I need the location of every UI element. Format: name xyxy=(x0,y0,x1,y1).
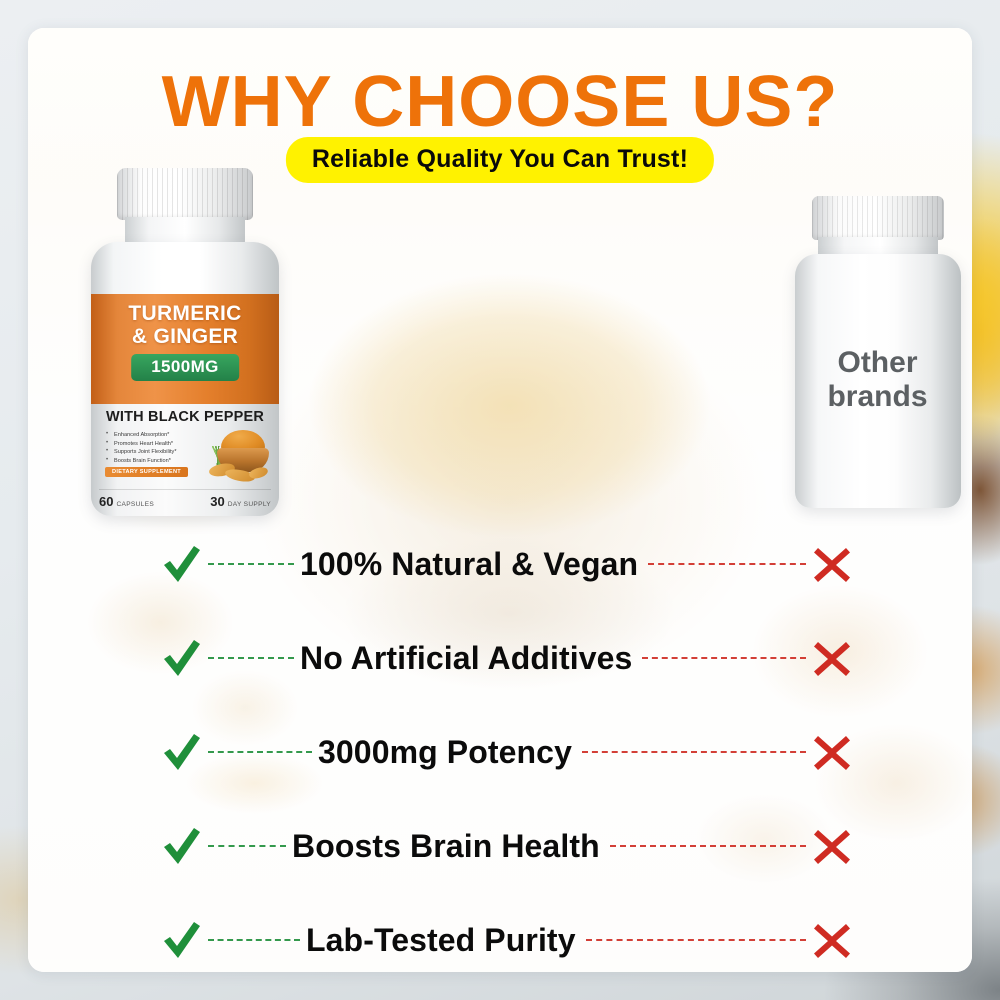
comparison-row: 3000mg Potency xyxy=(160,726,852,778)
cross-icon xyxy=(812,920,852,960)
competitor-label-line-1: Other xyxy=(790,346,965,380)
comparison-row: Boosts Brain Health xyxy=(160,820,852,872)
check-icon xyxy=(160,824,204,868)
right-dashed-connector xyxy=(582,751,806,753)
page-title: WHY CHOOSE US? xyxy=(28,66,972,138)
feature-label: No Artificial Additives xyxy=(300,640,632,677)
right-dashed-connector xyxy=(642,657,806,659)
competitor-label: Other brands xyxy=(790,346,965,414)
comparison-row: 100% Natural & Vegan xyxy=(160,538,852,590)
competitor-bottle: Other brands xyxy=(790,196,965,508)
dietary-supplement-badge: DIETARY SUPPLEMENT xyxy=(105,467,188,477)
comparison-row: No Artificial Additives xyxy=(160,632,852,684)
benefit-item: Promotes Heart Health* xyxy=(105,440,201,449)
tagline-badge: Reliable Quality You Can Trust! xyxy=(286,137,714,183)
bottle-subtitle: WITH BLACK PEPPER xyxy=(91,409,279,425)
left-dashed-connector xyxy=(208,939,300,941)
strength-badge: 1500MG xyxy=(131,354,239,381)
capsule-count: 60CAPSULES xyxy=(99,493,154,511)
brand-line-1: TURMERIC xyxy=(91,302,279,325)
check-icon xyxy=(160,918,204,962)
feature-label: 3000mg Potency xyxy=(318,734,572,771)
product-bottle: TURMERIC & GINGER 1500MG WITH BLACK PEPP… xyxy=(85,168,285,516)
check-icon xyxy=(160,542,204,586)
competitor-bottle-cap xyxy=(812,196,944,240)
capsule-count-value: 60 xyxy=(99,494,113,509)
right-dashed-connector xyxy=(610,845,806,847)
right-dashed-connector xyxy=(648,563,806,565)
benefit-item: Enhanced Absorption* xyxy=(105,431,201,440)
comparison-row: Lab-Tested Purity xyxy=(160,914,852,966)
bottle-count-row: 60CAPSULES 30DAY SUPPLY xyxy=(99,489,271,511)
day-supply-label: DAY SUPPLY xyxy=(228,501,271,508)
turmeric-bowl-icon xyxy=(205,428,273,482)
capsule-count-label: CAPSULES xyxy=(116,501,154,508)
check-icon xyxy=(160,730,204,774)
benefit-item: Supports Joint Flexibility* xyxy=(105,448,201,457)
brand-line-2: & GINGER xyxy=(91,325,279,348)
day-supply: 30DAY SUPPLY xyxy=(210,493,271,511)
left-dashed-connector xyxy=(208,657,294,659)
content-card: WHY CHOOSE US? Reliable Quality You Can … xyxy=(28,28,972,972)
left-dashed-connector xyxy=(208,563,294,565)
competitor-label-line-2: brands xyxy=(790,380,965,414)
feature-label: 100% Natural & Vegan xyxy=(300,546,638,583)
cross-icon xyxy=(812,544,852,584)
benefit-item: Boosts Brain Function* xyxy=(105,457,201,466)
feature-label: Lab-Tested Purity xyxy=(306,922,576,959)
feature-label: Boosts Brain Health xyxy=(292,828,600,865)
day-supply-value: 30 xyxy=(210,494,224,509)
bottle-body: TURMERIC & GINGER 1500MG WITH BLACK PEPP… xyxy=(91,242,279,516)
cross-icon xyxy=(812,826,852,866)
left-dashed-connector xyxy=(208,751,312,753)
left-dashed-connector xyxy=(208,845,286,847)
cross-icon xyxy=(812,732,852,772)
bottle-brand: TURMERIC & GINGER xyxy=(91,302,279,348)
cross-icon xyxy=(812,638,852,678)
right-dashed-connector xyxy=(586,939,806,941)
bottle-label-grey: WITH BLACK PEPPER Enhanced Absorption* P… xyxy=(91,404,279,516)
bottle-benefits-list: Enhanced Absorption* Promotes Heart Heal… xyxy=(105,431,201,465)
check-icon xyxy=(160,636,204,680)
bottle-cap xyxy=(117,168,253,220)
bottle-label-orange: TURMERIC & GINGER 1500MG xyxy=(91,294,279,404)
